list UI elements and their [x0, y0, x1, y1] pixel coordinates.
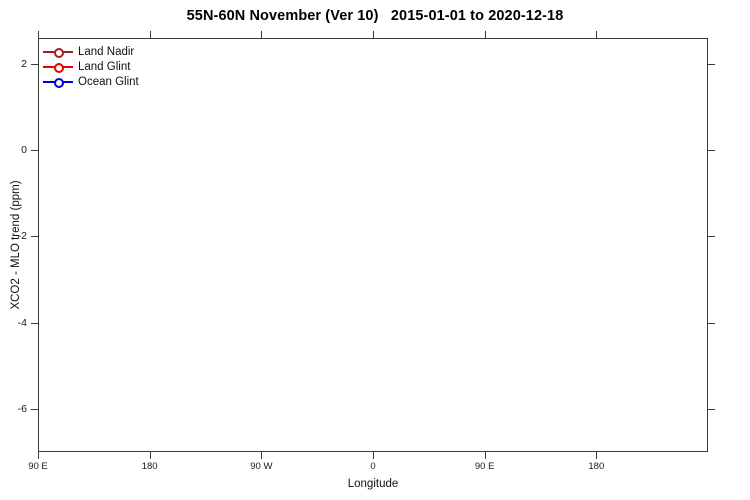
x-tick-mark-top [373, 31, 374, 38]
x-tick-mark [373, 452, 374, 459]
x-tick-label: 90 E [28, 461, 48, 472]
legend-circle-icon [54, 48, 64, 58]
x-tick-label: 180 [142, 461, 158, 472]
y-tick-mark-right [708, 150, 715, 151]
x-tick-label: 90 E [475, 461, 495, 472]
legend-item-label: Land Glint [78, 61, 130, 73]
legend-item-land-glint[interactable]: Land Glint [43, 60, 139, 74]
x-tick-label: 90 W [250, 461, 272, 472]
y-tick-label: -4 [18, 317, 27, 329]
x-tick-mark [596, 452, 597, 459]
y-tick-label: -6 [18, 403, 27, 415]
legend-item-label: Ocean Glint [78, 76, 139, 88]
y-tick-mark-right [708, 64, 715, 65]
y-tick-label: 2 [21, 58, 27, 70]
legend-circle-icon [54, 63, 64, 73]
y-tick-mark [31, 236, 38, 237]
x-tick-mark-top [261, 31, 262, 38]
y-tick-mark [31, 64, 38, 65]
x-tick-label: 0 [370, 461, 375, 472]
y-tick-mark-right [708, 236, 715, 237]
x-tick-mark [38, 452, 39, 459]
x-tick-mark [150, 452, 151, 459]
x-tick-mark-top [485, 31, 486, 38]
x-tick-mark-top [150, 31, 151, 38]
legend-marker-icon [43, 76, 73, 88]
legend-item-ocean-glint[interactable]: Ocean Glint [43, 75, 139, 89]
y-tick-mark [31, 323, 38, 324]
y-tick-label: 0 [21, 144, 27, 156]
legend-circle-icon [54, 78, 64, 88]
chart-canvas: 55N-60N November (Ver 10) 2015-01-01 to … [0, 0, 750, 500]
legend-marker-icon [43, 46, 73, 58]
chart-title: 55N-60N November (Ver 10) 2015-01-01 to … [0, 8, 750, 24]
y-tick-mark-right [708, 323, 715, 324]
axes-layer: 20-2-4-6 90 E18090 W090 E180 XCO2 - MLO … [38, 38, 708, 452]
x-tick-mark [261, 452, 262, 459]
y-axis-label: XCO2 - MLO trend (ppm) [10, 180, 22, 309]
x-tick-mark-top [596, 31, 597, 38]
y-tick-mark-right [708, 409, 715, 410]
x-tick-label: 180 [588, 461, 604, 472]
chart-legend: Land NadirLand GlintOcean Glint [43, 45, 139, 90]
legend-marker-icon [43, 61, 73, 73]
legend-item-land-nadir[interactable]: Land Nadir [43, 45, 139, 59]
x-tick-mark [485, 452, 486, 459]
y-tick-mark [31, 150, 38, 151]
legend-item-label: Land Nadir [78, 46, 134, 58]
y-tick-mark [31, 409, 38, 410]
x-axis-label: Longitude [348, 478, 399, 490]
x-tick-mark-top [38, 31, 39, 38]
